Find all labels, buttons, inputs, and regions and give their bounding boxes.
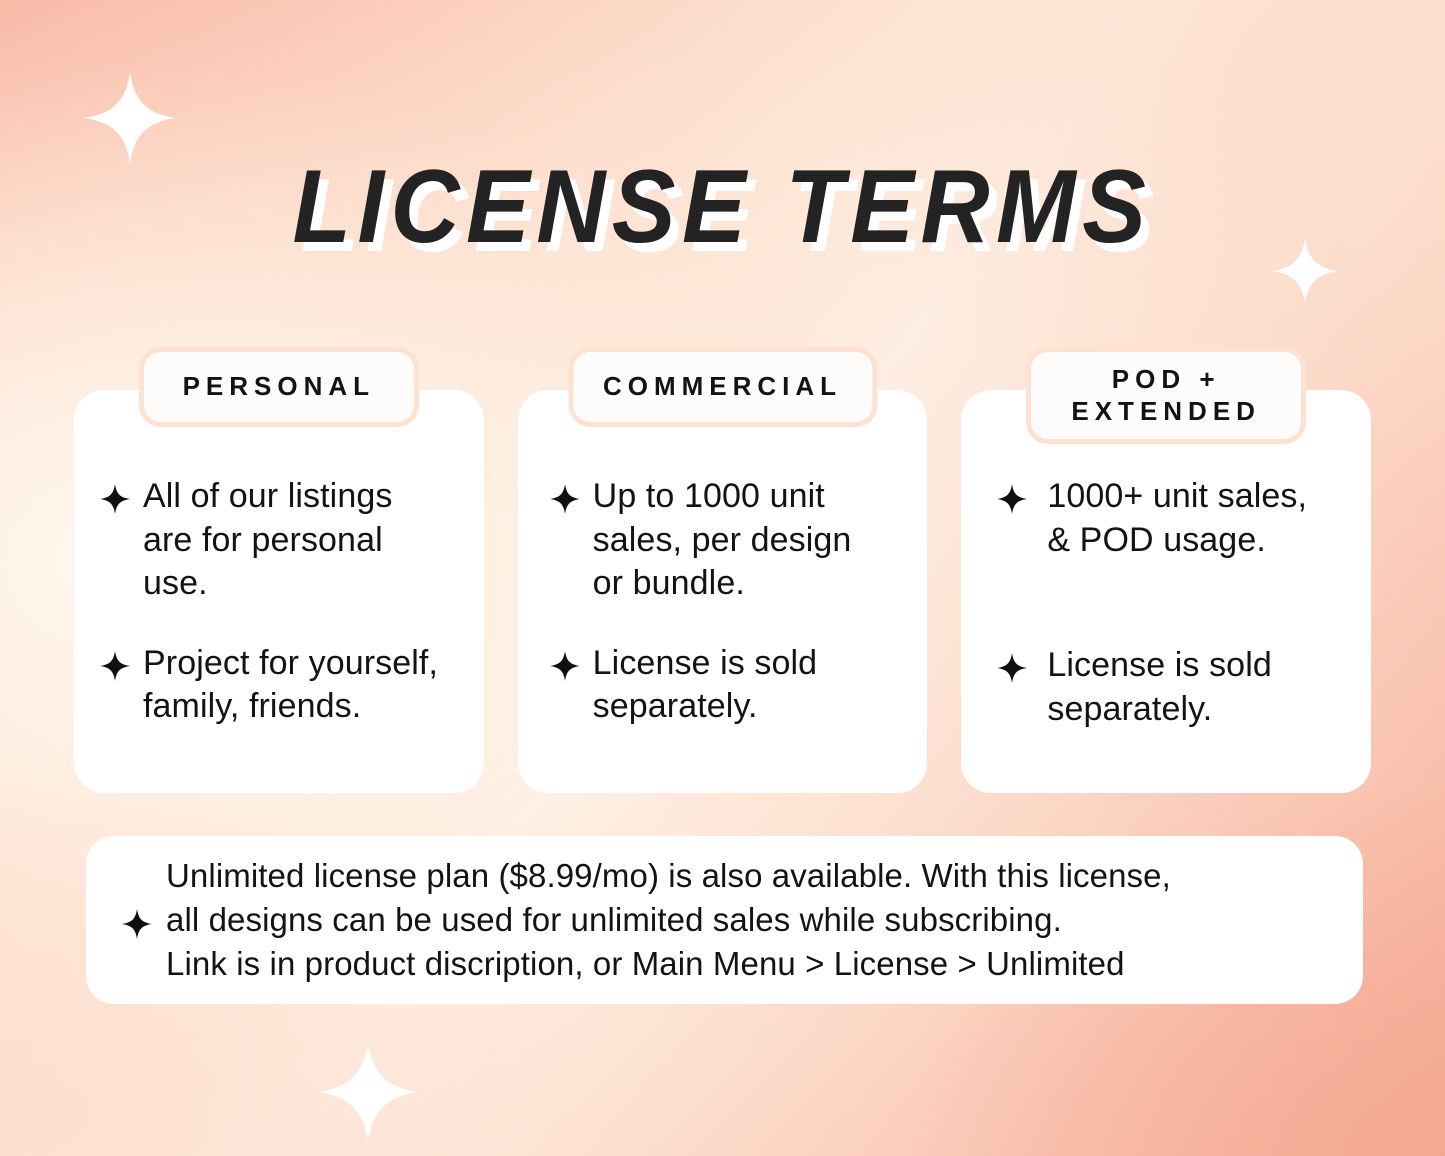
card-bullet-list: All of our listings are for personal use… bbox=[100, 475, 468, 729]
license-card-commercial: COMMERCIAL Up to 1000 unit sales, per de… bbox=[518, 347, 928, 793]
page-title: LICENSE TERMS bbox=[58, 148, 1387, 267]
card-tab-label-line2: EXTENDED bbox=[1061, 396, 1271, 428]
sparkle-icon bbox=[100, 651, 130, 681]
card-tab-commercial[interactable]: COMMERCIAL bbox=[568, 347, 877, 427]
list-item-text: 1000+ unit sales, & POD usage. bbox=[1047, 475, 1307, 562]
card-bullet-list: 1000+ unit sales, & POD usage. License i… bbox=[997, 475, 1355, 731]
list-item: 1000+ unit sales, & POD usage. bbox=[997, 475, 1355, 562]
list-item: Project for yourself, family, friends. bbox=[100, 642, 468, 729]
card-tab-label-line1: POD + bbox=[1061, 364, 1271, 396]
sparkle-icon bbox=[318, 1042, 418, 1142]
sparkle-icon bbox=[550, 651, 580, 681]
list-item-text: License is sold separately. bbox=[593, 642, 818, 729]
sparkle-icon bbox=[997, 653, 1027, 683]
list-item-text: Up to 1000 unit sales, per design or bun… bbox=[593, 475, 852, 606]
list-item-text: License is sold separately. bbox=[1047, 644, 1272, 731]
list-item: License is sold separately. bbox=[997, 644, 1355, 731]
card-bullet-list: Up to 1000 unit sales, per design or bun… bbox=[550, 475, 912, 729]
card-tab-personal[interactable]: PERSONAL bbox=[139, 347, 419, 427]
sparkle-icon bbox=[997, 484, 1027, 514]
sparkle-icon bbox=[100, 484, 130, 514]
list-item-text: Project for yourself, family, friends. bbox=[143, 642, 438, 729]
list-item-text: All of our listings are for personal use… bbox=[143, 475, 392, 606]
unlimited-plan-banner: Unlimited license plan ($8.99/mo) is als… bbox=[86, 836, 1363, 1004]
license-card-pod-extended: POD + EXTENDED 1000+ unit sales, & POD u… bbox=[961, 347, 1371, 793]
list-item: Up to 1000 unit sales, per design or bun… bbox=[550, 475, 912, 606]
license-card-personal: PERSONAL All of our listings are for per… bbox=[74, 347, 484, 793]
card-tab-label: PERSONAL bbox=[174, 371, 384, 403]
list-item: All of our listings are for personal use… bbox=[100, 475, 468, 606]
sparkle-icon bbox=[550, 484, 580, 514]
sparkle-icon bbox=[122, 909, 152, 939]
unlimited-plan-text: Unlimited license plan ($8.99/mo) is als… bbox=[166, 854, 1171, 986]
card-tab-pod-extended[interactable]: POD + EXTENDED bbox=[1026, 347, 1306, 444]
license-cards-row: PERSONAL All of our listings are for per… bbox=[74, 347, 1371, 793]
card-tab-label: COMMERCIAL bbox=[603, 371, 842, 403]
list-item: License is sold separately. bbox=[550, 642, 912, 729]
